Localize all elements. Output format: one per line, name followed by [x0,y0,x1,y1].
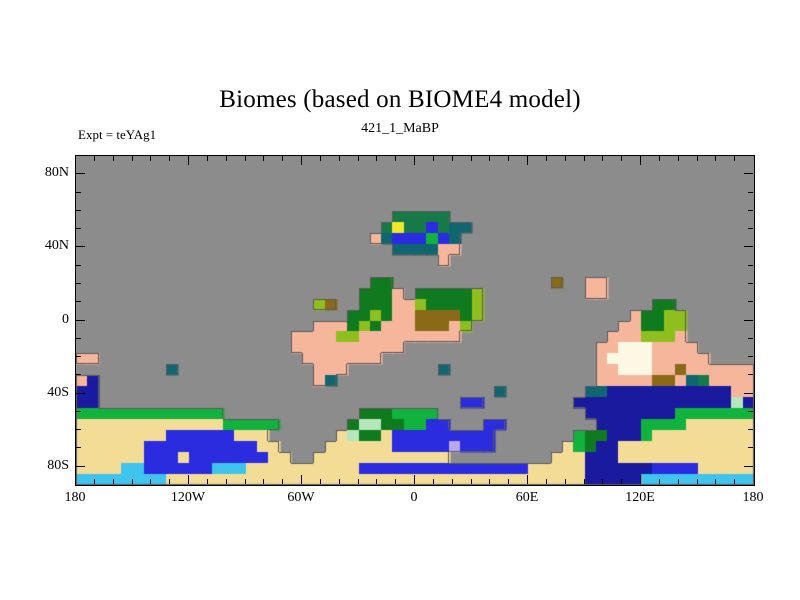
x-axis-tick [358,156,359,161]
x-axis-tick [414,475,415,484]
y-axis-tick [76,411,81,412]
y-axis-tick [76,393,85,394]
x-axis-tick [697,156,698,161]
page-title: Biomes (based on BIOME4 model) [0,86,800,114]
y-axis-tick [76,192,81,193]
x-axis-tick [433,156,434,161]
x-axis-tick [320,479,321,484]
x-axis-tick [640,156,641,165]
x-axis-tick [132,156,133,161]
x-axis-tick [433,479,434,484]
x-axis-tick [414,156,415,165]
y-axis-tick [76,283,81,284]
figure-root: Biomes (based on BIOME4 model) 421_1_MaB… [0,0,800,600]
x-axis-tick [697,479,698,484]
x-axis-tick [584,479,585,484]
x-axis-label: 120E [625,490,655,506]
x-axis-tick [358,479,359,484]
x-axis-tick [132,479,133,484]
y-axis-tick [744,466,753,467]
x-axis-tick [207,479,208,484]
y-axis-tick [76,301,81,302]
x-axis-label: 180 [65,490,86,506]
x-axis-tick [546,156,547,161]
x-axis-tick [226,479,227,484]
x-axis-tick [282,479,283,484]
x-axis-tick [395,479,396,484]
y-axis-label: 80N [27,165,69,181]
x-axis-tick [226,156,227,161]
x-axis-tick [659,156,660,161]
x-axis-tick [508,479,509,484]
y-axis-tick [744,393,753,394]
biome-map-plot-area [75,155,755,486]
x-axis-tick [94,479,95,484]
x-axis-tick [659,479,660,484]
x-axis-tick [320,156,321,161]
y-axis-tick [76,228,81,229]
x-axis-tick [489,479,490,484]
y-axis-tick [744,246,753,247]
y-axis-tick [748,374,753,375]
y-axis-tick [748,338,753,339]
y-axis-tick [744,320,753,321]
y-axis-tick [76,246,85,247]
x-axis-tick [301,475,302,484]
x-axis-tick [150,156,151,161]
x-axis-tick [621,479,622,484]
x-axis-tick [113,156,114,161]
x-axis-tick [113,479,114,484]
y-axis-tick [76,320,85,321]
x-axis-tick [282,156,283,161]
x-axis-tick [452,479,453,484]
y-axis-tick [744,173,753,174]
experiment-label: Expt = teYAg1 [78,127,156,143]
y-axis-tick [76,429,81,430]
y-axis-tick [748,283,753,284]
x-axis-tick [301,156,302,165]
y-axis-label: 40N [27,238,69,254]
y-axis-tick [748,301,753,302]
y-axis-tick [76,265,81,266]
y-axis-tick [748,356,753,357]
x-axis-tick [169,479,170,484]
y-axis-tick [748,429,753,430]
x-axis-tick [376,479,377,484]
x-axis-tick [734,479,735,484]
biome-map-canvas [76,156,754,485]
x-axis-tick [640,475,641,484]
x-axis-tick [565,156,566,161]
x-axis-tick [734,156,735,161]
y-axis-label: 80S [27,458,69,474]
x-axis-label: 120W [171,490,205,506]
y-axis-tick [748,447,753,448]
x-axis-tick [263,479,264,484]
y-axis-tick [748,265,753,266]
x-axis-tick [188,475,189,484]
x-axis-tick [602,479,603,484]
x-axis-tick [584,156,585,161]
y-axis-tick [748,411,753,412]
y-axis-label: 0 [27,312,69,328]
x-axis-tick [508,156,509,161]
x-axis-label: 0 [411,490,418,506]
x-axis-tick [245,156,246,161]
x-axis-tick [527,156,528,165]
x-axis-tick [471,156,472,161]
x-axis-tick [715,156,716,161]
y-axis-tick [76,466,85,467]
x-axis-label: 60W [287,490,314,506]
y-axis-tick [748,210,753,211]
y-axis-tick [748,192,753,193]
y-axis-tick [76,338,81,339]
x-axis-tick [565,479,566,484]
y-axis-tick [76,374,81,375]
x-axis-tick [376,156,377,161]
x-axis-tick [94,156,95,161]
y-axis-tick [76,447,81,448]
x-axis-tick [602,156,603,161]
x-axis-label: 180 [743,490,764,506]
y-axis-tick [76,356,81,357]
x-axis-tick [150,479,151,484]
x-axis-tick [395,156,396,161]
x-axis-tick [621,156,622,161]
x-axis-tick [452,156,453,161]
x-axis-tick [207,156,208,161]
y-axis-tick [76,173,85,174]
x-axis-tick [678,479,679,484]
x-axis-tick [188,156,189,165]
x-axis-label: 60E [516,490,539,506]
x-axis-tick [715,479,716,484]
x-axis-tick [471,479,472,484]
x-axis-tick [546,479,547,484]
y-axis-label: 40S [27,385,69,401]
x-axis-tick [527,475,528,484]
x-axis-tick [339,479,340,484]
x-axis-tick [169,156,170,161]
x-axis-tick [339,156,340,161]
y-axis-tick [76,210,81,211]
y-axis-tick [748,228,753,229]
x-axis-tick [263,156,264,161]
x-axis-tick [678,156,679,161]
x-axis-tick [489,156,490,161]
x-axis-tick [245,479,246,484]
